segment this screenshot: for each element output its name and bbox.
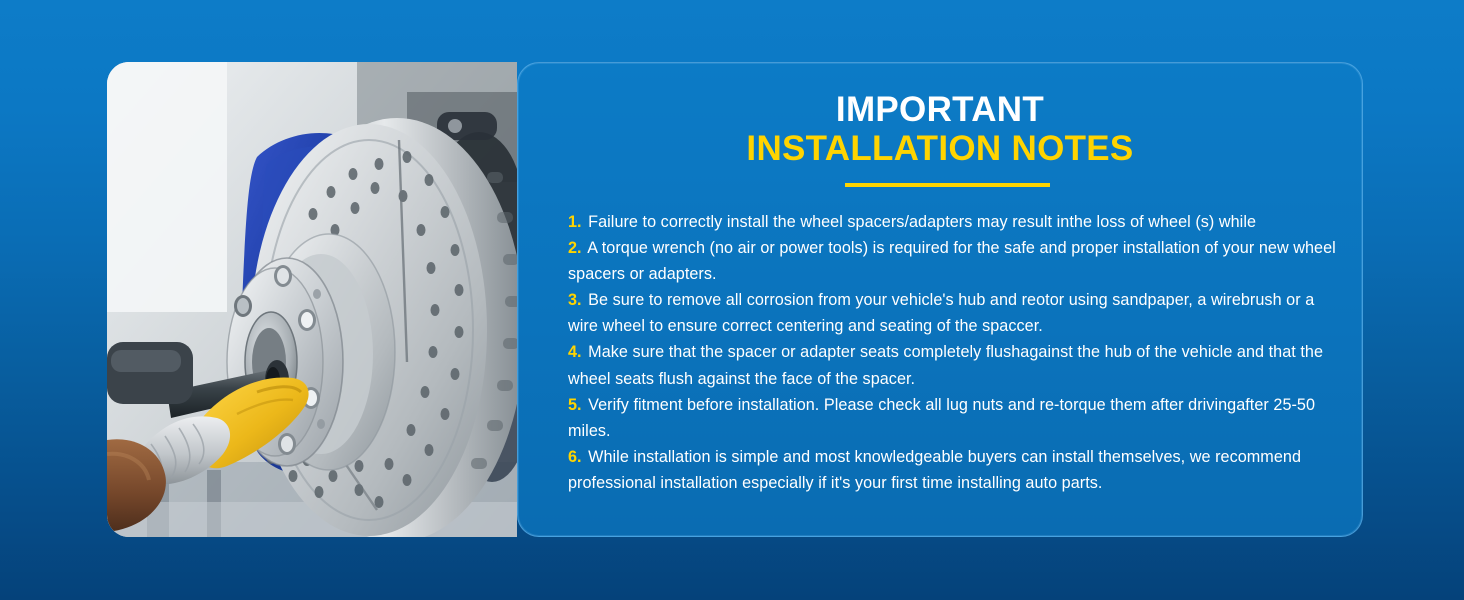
note-item: 2. A torque wrench (no air or power tool…	[568, 235, 1348, 287]
note-text: A torque wrench (no air or power tools) …	[568, 239, 1336, 283]
note-item: 1. Failure to correctly install the whee…	[568, 209, 1348, 235]
brake-rotor-spacer-photo	[107, 62, 517, 537]
installation-notes-list: 1. Failure to correctly install the whee…	[568, 209, 1348, 496]
note-number: 2.	[568, 239, 582, 257]
heading-divider	[845, 183, 1050, 187]
note-number: 1.	[568, 213, 582, 231]
note-item: 4. Make sure that the spacer or adapter …	[568, 339, 1348, 391]
note-number: 6.	[568, 448, 582, 466]
page-title-line-2: INSTALLATION NOTES	[517, 129, 1363, 168]
note-item: 3. Be sure to remove all corrosion from …	[568, 287, 1348, 339]
note-text: Verify fitment before installation. Plea…	[568, 396, 1315, 440]
page-title-line-1: IMPORTANT	[517, 90, 1363, 129]
note-text: Make sure that the spacer or adapter sea…	[568, 343, 1323, 387]
note-number: 3.	[568, 291, 582, 309]
installation-notes-banner: IMPORTANT INSTALLATION NOTES 1. Failure …	[0, 0, 1464, 600]
note-number: 5.	[568, 396, 582, 414]
note-item: 5. Verify fitment before installation. P…	[568, 392, 1348, 444]
note-text: While installation is simple and most kn…	[568, 448, 1301, 492]
note-text: Be sure to remove all corrosion from you…	[568, 291, 1314, 335]
note-item: 6. While installation is simple and most…	[568, 444, 1348, 496]
photo-illustration	[107, 62, 517, 537]
note-text: Failure to correctly install the wheel s…	[584, 213, 1256, 231]
note-number: 4.	[568, 343, 582, 361]
heading-block: IMPORTANT INSTALLATION NOTES	[517, 90, 1363, 168]
